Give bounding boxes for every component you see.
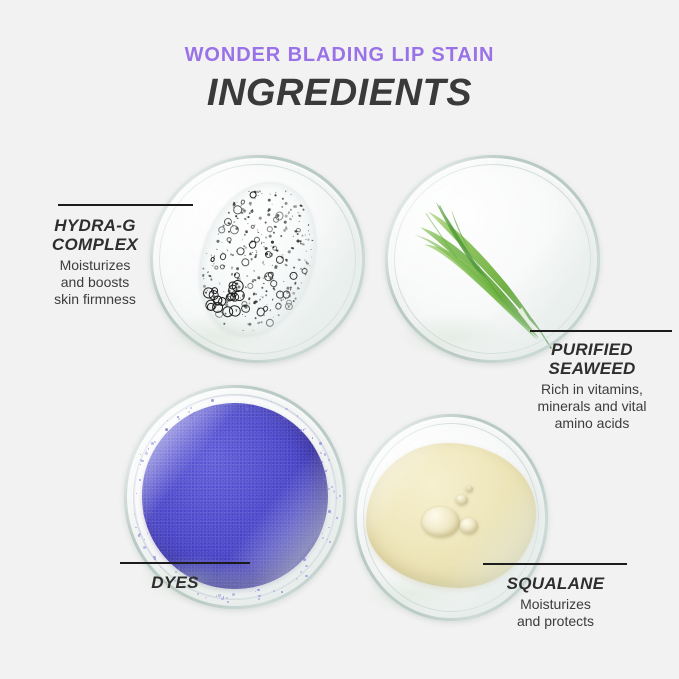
description-line3: amino acids bbox=[512, 415, 672, 432]
dye-grain bbox=[197, 593, 199, 595]
leader-line bbox=[58, 204, 193, 206]
dye-grain bbox=[158, 449, 160, 451]
dye-grain bbox=[145, 485, 148, 488]
dye-grain bbox=[136, 493, 137, 494]
dye-grain bbox=[319, 442, 321, 444]
dye-grain bbox=[324, 478, 326, 480]
dish-rim-inner bbox=[159, 164, 356, 354]
dye-grain bbox=[139, 479, 141, 481]
product-subtitle: WONDER BLADING LIP STAIN bbox=[0, 44, 679, 67]
dye-grain bbox=[331, 486, 333, 488]
dye-grain bbox=[300, 571, 302, 573]
callout-hydra-g-complex: HYDRA-G COMPLEX Moisturizes and boosts s… bbox=[20, 216, 170, 308]
ingredient-description: Moisturizes and protects bbox=[483, 596, 628, 630]
dye-grain bbox=[193, 412, 195, 414]
ingredient-name-line2: COMPLEX bbox=[20, 235, 170, 254]
dye-grain bbox=[328, 488, 330, 490]
dye-grain bbox=[258, 595, 260, 597]
dye-grain bbox=[218, 594, 221, 597]
dye-grain bbox=[232, 593, 235, 596]
dye-grain bbox=[188, 411, 190, 413]
dye-grain bbox=[153, 556, 155, 558]
page-title: INGREDIENTS bbox=[0, 72, 679, 115]
dye-grain bbox=[143, 546, 146, 549]
ingredient-name: SQUALANE bbox=[483, 574, 628, 593]
dye-grain bbox=[255, 591, 256, 592]
dye-grain bbox=[325, 470, 327, 472]
dye-grain bbox=[336, 517, 338, 519]
dye-grain bbox=[154, 441, 156, 443]
dye-grain bbox=[227, 601, 229, 603]
dye-grain bbox=[146, 450, 148, 452]
dye-grain bbox=[135, 527, 136, 528]
description-line1: Moisturizes bbox=[20, 257, 170, 274]
dye-grain bbox=[186, 408, 187, 409]
ingredient-description: Rich in vitamins, minerals and vital ami… bbox=[512, 381, 672, 432]
dye-grain bbox=[154, 558, 156, 560]
dye-grain bbox=[305, 575, 308, 578]
dye-grain bbox=[305, 555, 307, 557]
dye-grain bbox=[336, 497, 338, 499]
dye-grain bbox=[191, 417, 192, 418]
dye-grain bbox=[283, 417, 286, 420]
ingredient-name: DYES bbox=[120, 573, 230, 592]
leader-line bbox=[483, 563, 627, 565]
ingredients-infographic: WONDER BLADING LIP STAIN INGREDIENTS bbox=[0, 0, 679, 679]
description-line2: minerals and vital bbox=[512, 398, 672, 415]
petri-dish-hydra-g-complex bbox=[150, 155, 365, 363]
description-line2: and protects bbox=[483, 613, 628, 630]
ingredient-name-line2: SEAWEED bbox=[512, 359, 672, 378]
dye-grain bbox=[141, 460, 143, 462]
dye-grain bbox=[305, 565, 308, 568]
dye-grain bbox=[321, 461, 323, 463]
description-line2: and boosts bbox=[20, 274, 170, 291]
dye-grain bbox=[320, 452, 322, 454]
dye-grain bbox=[151, 442, 153, 444]
dye-grain bbox=[313, 447, 314, 448]
leader-line bbox=[530, 330, 672, 332]
description-line3: skin firmness bbox=[20, 291, 170, 308]
ingredient-description: Moisturizes and boosts skin firmness bbox=[20, 257, 170, 308]
dye-grain bbox=[140, 464, 141, 465]
dye-grain bbox=[327, 539, 328, 540]
description-line1: Moisturizes bbox=[483, 596, 628, 613]
leader-line bbox=[120, 562, 250, 564]
dye-grain bbox=[178, 418, 180, 420]
dye-grain bbox=[322, 450, 323, 451]
dye-grain bbox=[277, 582, 278, 583]
dye-grain bbox=[258, 598, 260, 600]
ingredient-name: PURIFIED SEAWEED bbox=[512, 340, 672, 378]
callout-squalane: SQUALANE Moisturizes and protects bbox=[483, 574, 628, 630]
callout-purified-seaweed: PURIFIED SEAWEED Rich in vitamins, miner… bbox=[512, 340, 672, 432]
dye-grain bbox=[178, 567, 180, 569]
dye-grain bbox=[257, 589, 259, 591]
ingredient-name-line1: PURIFIED bbox=[512, 340, 672, 359]
dye-grain bbox=[281, 591, 283, 593]
dye-grain bbox=[271, 401, 272, 402]
dye-grain bbox=[134, 514, 135, 515]
ingredient-name-line1: HYDRA-G bbox=[20, 216, 170, 235]
ingredient-name: HYDRA-G COMPLEX bbox=[20, 216, 170, 254]
dye-grain bbox=[317, 534, 318, 535]
dye-grain bbox=[190, 407, 192, 409]
dish-rim-inner bbox=[394, 164, 591, 354]
callout-dyes: DYES bbox=[120, 573, 230, 592]
dye-grain bbox=[296, 578, 298, 580]
description-line1: Rich in vitamins, bbox=[512, 381, 672, 398]
dye-grain bbox=[322, 537, 324, 539]
dish-rim-inner bbox=[133, 394, 337, 600]
dye-grain bbox=[205, 597, 206, 598]
